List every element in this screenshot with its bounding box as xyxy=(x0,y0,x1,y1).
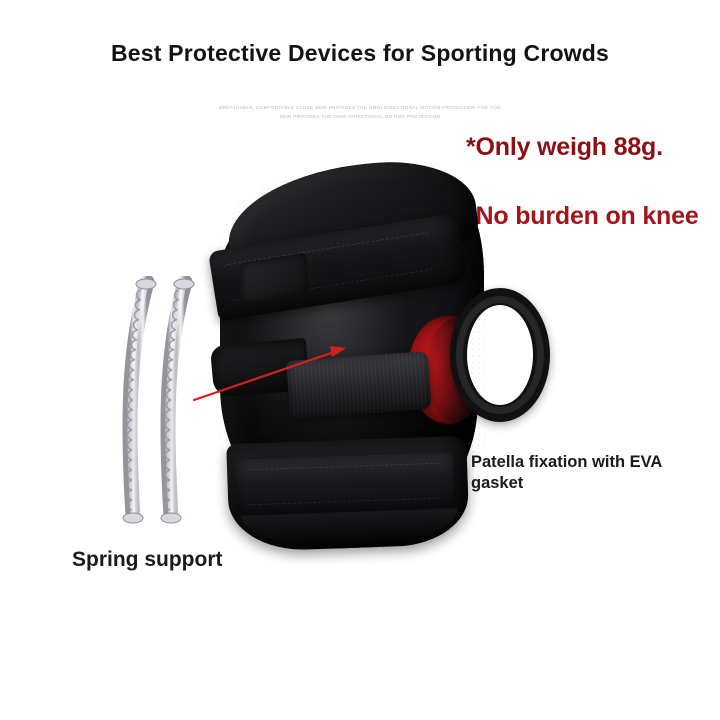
callout-weight: *Only weigh 88g. xyxy=(466,133,663,162)
product-infographic-canvas: Best Protective Devices for Sporting Cro… xyxy=(0,0,720,720)
fineprint-line-1: BREATHABLE, COMFORTABLE CLOSE SKIN PROVI… xyxy=(130,103,590,112)
spring-pointer-arrow xyxy=(180,330,370,425)
eva-gasket-highlight xyxy=(456,296,544,414)
page-title: Best Protective Devices for Sporting Cro… xyxy=(0,40,720,67)
label-spring-support: Spring support xyxy=(72,549,223,570)
label-patella-fixation: Patella fixation with EVA gasket xyxy=(471,452,716,494)
brace-bottom-strap-stitching xyxy=(245,463,442,506)
fineprint-block: BREATHABLE, COMFORTABLE CLOSE SKIN PROVI… xyxy=(130,103,590,121)
fineprint-line-2: SKIN PROVIDES THE OMNI-DIRECTIONAL MOTIO… xyxy=(130,112,590,121)
